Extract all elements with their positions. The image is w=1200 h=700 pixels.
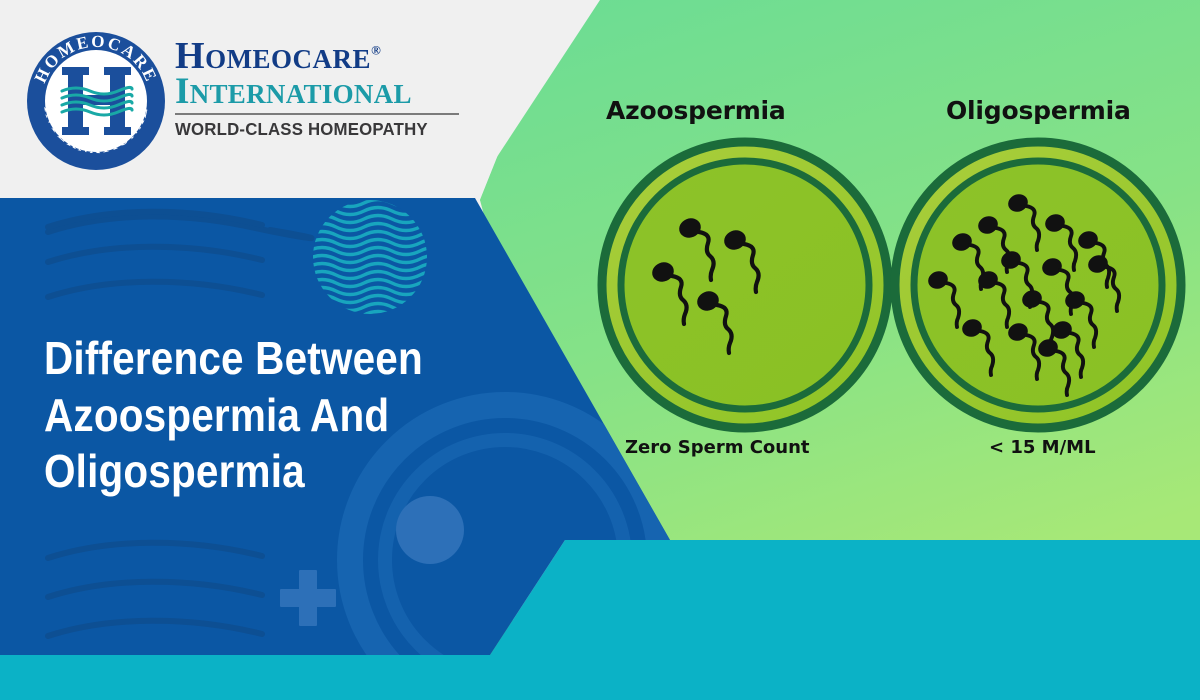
page-title-line1: Difference Between [44,330,423,387]
wordmark-line2-initial: I [175,71,190,112]
page-title: Difference Between Azoospermia And Oligo… [44,330,423,500]
oligospermia-heading: Oligospermia [946,96,1131,125]
oligospermia-dish [895,142,1181,428]
oligospermia-caption: < 15 M/ML [989,437,1096,458]
wordmark-line1: HOMEOCARE® [175,38,465,75]
dot-decor [396,496,464,564]
homeocare-badge-icon[interactable]: HOMEOCARE INTERNATIONAL [22,27,170,175]
azoospermia-heading: Azoospermia [606,96,786,125]
azoospermia-dish [602,142,888,428]
wordmark-line1-rest: OMEOCARE [205,44,371,74]
registered-mark: ® [371,42,381,57]
wordmark-divider [175,113,459,115]
wordmark-line2: INTERNATIONAL [175,73,465,110]
infographic-banner: HOMEOCARE INTERNATIONAL [0,0,1200,700]
page-title-line2: Azoospermia And [44,387,423,444]
page-title-line3: Oligospermia [44,443,423,500]
wordmark-tagline: WORLD-CLASS HOMEOPATHY [175,119,453,140]
wordmark-line2-rest: NTERNATIONAL [190,79,412,109]
wordmark-line1-initial: H [175,35,205,77]
azoospermia-caption: Zero Sperm Count [625,437,810,458]
wordmark: HOMEOCARE® INTERNATIONAL WORLD-CLASS HOM… [175,38,465,140]
logo-block[interactable]: HOMEOCARE INTERNATIONAL [0,0,470,190]
